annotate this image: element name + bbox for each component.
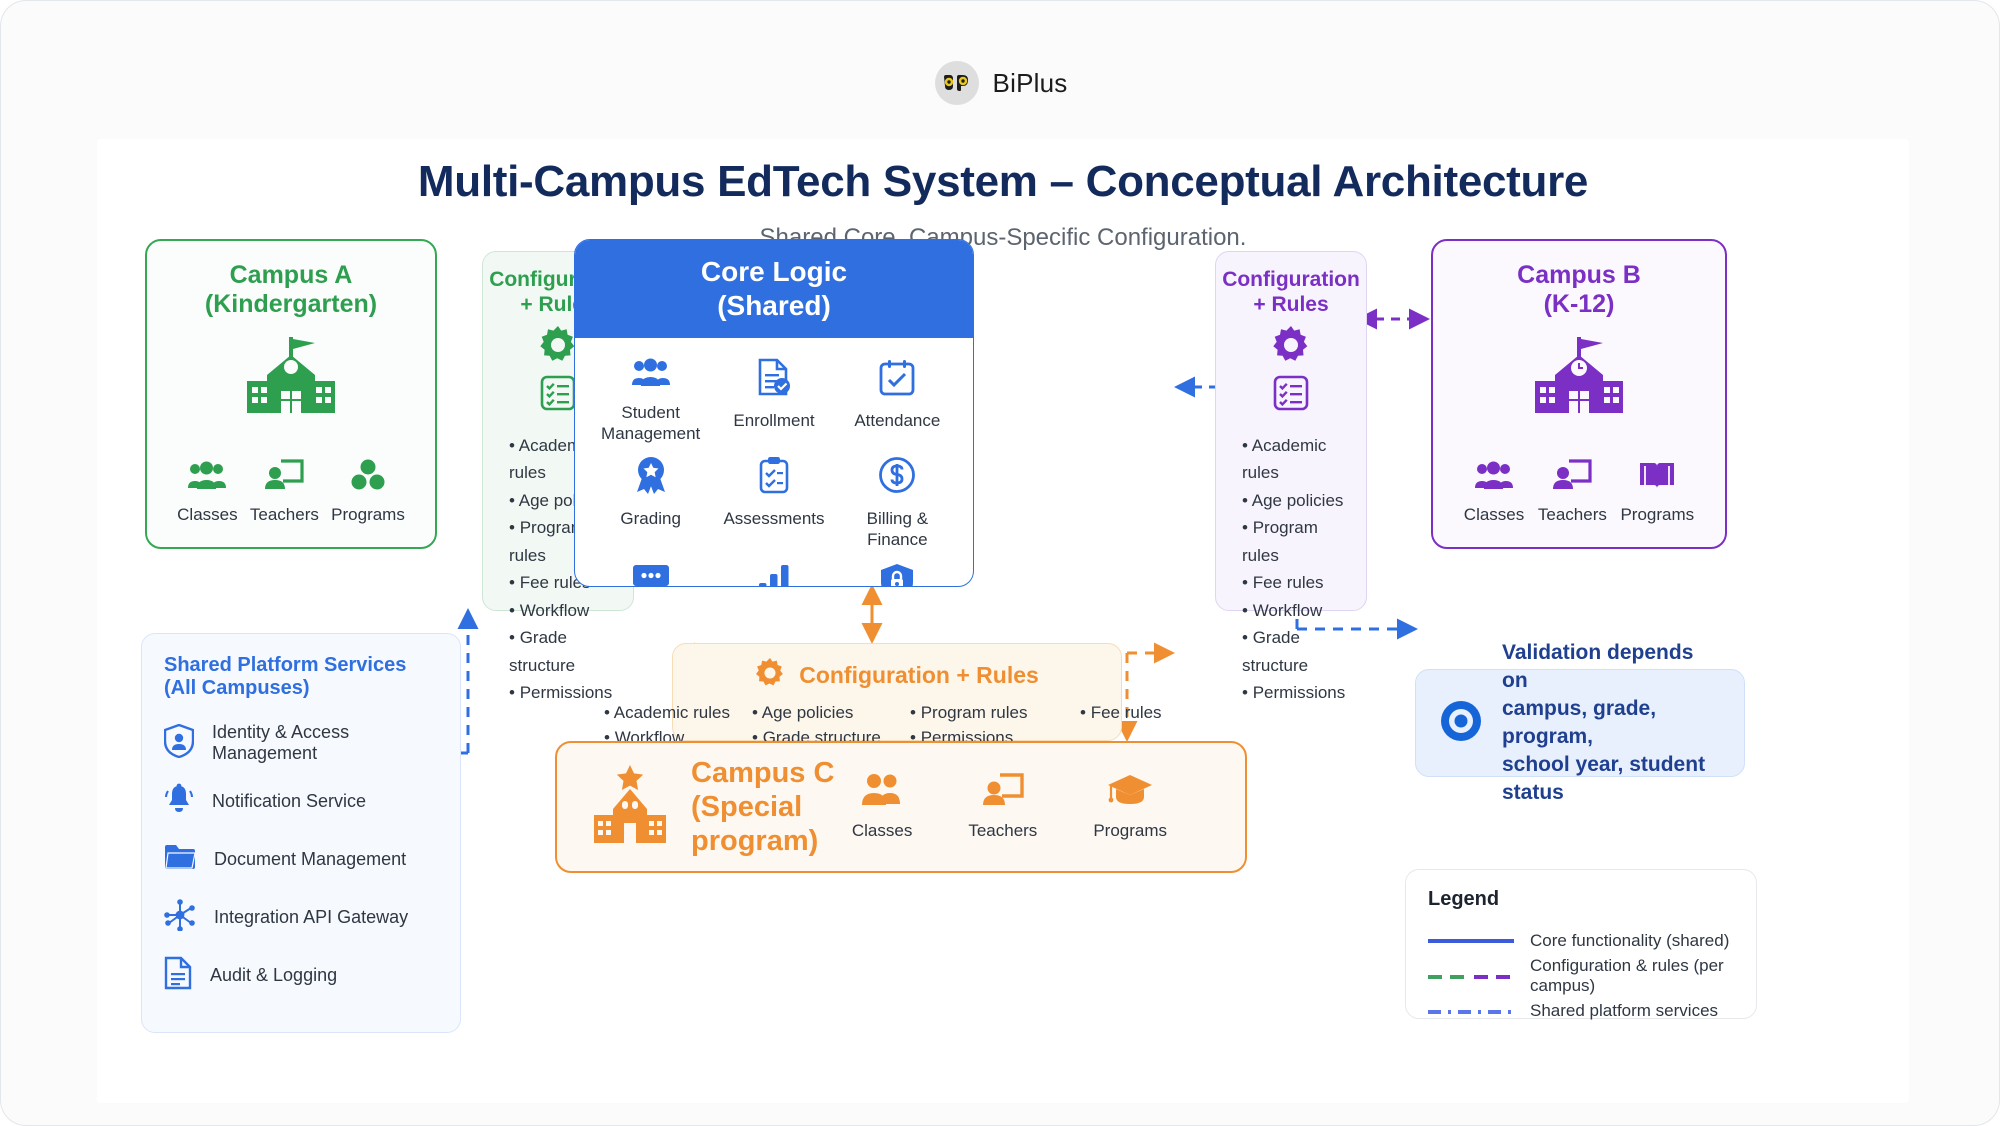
people-group-icon	[861, 773, 903, 812]
core-cell-student-management[interactable]: StudentManagement	[589, 358, 712, 444]
checklist-icon	[1273, 375, 1309, 416]
campus-a-items: Classes Teachers	[147, 459, 435, 525]
shared-platform-services-panel[interactable]: Shared Platform Services (All Campuses) …	[141, 633, 461, 1033]
legend-item-label: Core functionality (shared)	[1530, 931, 1729, 951]
bell-icon	[164, 783, 194, 820]
config-left-item: Permissions	[509, 679, 619, 707]
legend-item-label: Shared platform services	[1530, 1001, 1718, 1021]
config-right-list: Academic rules Age policies Program rule…	[1230, 432, 1352, 707]
core-cell-attendance[interactable]: Attendance	[836, 358, 959, 444]
chat-bubble-icon	[632, 563, 670, 587]
graduation-cap-icon	[1107, 773, 1153, 812]
shared-platform-item-audit[interactable]: Audit & Logging	[164, 946, 438, 1004]
document-lines-icon	[164, 956, 192, 995]
config-right-item: Workflow	[1242, 597, 1352, 625]
legend-panel: Legend Core functionality (shared) Confi…	[1405, 869, 1757, 1019]
gear-icon	[755, 658, 785, 693]
bar-chart-icon	[757, 563, 791, 587]
three-circles-icon	[350, 459, 386, 496]
legend-item-label: Configuration & rules (per campus)	[1530, 956, 1734, 996]
campus-a-card[interactable]: Campus A (Kindergarten)	[145, 239, 437, 549]
config-right-item: Fee rules	[1242, 569, 1352, 597]
award-ribbon-icon	[634, 456, 668, 499]
dollar-circle-icon	[878, 456, 916, 499]
core-cell-reporting-analytics[interactable]: Reporting &Analytics	[712, 563, 835, 587]
legend-item-configuration: Configuration & rules (per campus)	[1428, 958, 1734, 993]
campus-c-item-label: Classes	[852, 821, 912, 841]
config-bottom-item: Fee rules	[1080, 703, 1190, 723]
core-cell-label: Attendance	[854, 411, 940, 432]
people-group-icon	[1474, 461, 1514, 496]
campus-b-item-label: Classes	[1464, 505, 1524, 525]
shared-platform-item-integration[interactable]: Integration API Gateway	[164, 888, 438, 946]
legend-swatch-solid-blue	[1428, 939, 1514, 943]
config-bottom-panel[interactable]: Configuration + Rules Academic rules Age…	[672, 643, 1122, 741]
core-cell-grading[interactable]: Grading	[589, 456, 712, 550]
campus-c-title: Campus C (Special program)	[691, 756, 852, 859]
biplus-logo-icon	[935, 61, 979, 105]
school-building-flag-icon	[243, 333, 339, 426]
core-cell-billing-finance[interactable]: Billing &Finance	[836, 456, 959, 550]
campus-a-item-label: Programs	[331, 505, 405, 525]
campus-c-item-classes[interactable]: Classes	[852, 773, 912, 841]
campus-b-card[interactable]: Campus B (K-12)	[1431, 239, 1727, 549]
campus-a-title: Campus A (Kindergarten)	[205, 261, 377, 319]
brand-header: BiPlus	[1, 61, 2000, 105]
shared-platform-item-identity[interactable]: Identity & Access Management	[164, 714, 438, 772]
api-network-icon	[164, 899, 196, 936]
campus-c-item-programs[interactable]: Programs	[1093, 773, 1167, 841]
campus-c-item-teachers[interactable]: Teachers	[968, 773, 1037, 841]
config-right-item: Age policies	[1242, 487, 1352, 515]
shared-platform-item-label: Identity & Access Management	[212, 722, 438, 764]
diagram-page: BiPlus Multi-Campus EdTech System – Conc…	[0, 0, 2000, 1126]
shared-platform-item-label: Document Management	[214, 849, 406, 870]
config-right-item: Program rules	[1242, 514, 1352, 569]
open-book-icon	[1638, 459, 1676, 496]
core-cell-access-security[interactable]: Access &Security	[836, 563, 959, 587]
campus-b-item-label: Programs	[1620, 505, 1694, 525]
campus-b-item-teachers[interactable]: Teachers	[1538, 459, 1607, 525]
shared-platform-item-document[interactable]: Document Management	[164, 830, 438, 888]
core-cell-label: Grading	[620, 509, 680, 530]
core-logic-title: Core Logic (Shared)	[575, 240, 973, 338]
target-ring-icon	[1440, 700, 1482, 747]
campus-a-item-teachers[interactable]: Teachers	[250, 459, 319, 525]
config-bottom-item: Academic rules	[604, 703, 752, 723]
school-building-clock-icon	[1531, 333, 1627, 426]
people-group-icon	[187, 461, 227, 496]
calendar-check-icon	[879, 358, 915, 401]
diagram-canvas: Multi-Campus EdTech System – Conceptual …	[97, 139, 1909, 1103]
config-bottom-item: Age policies	[752, 703, 910, 723]
legend-item-shared-platform: Shared platform services	[1428, 993, 1734, 1028]
campus-a-item-classes[interactable]: Classes	[177, 461, 237, 525]
campus-b-title: Campus B (K-12)	[1517, 261, 1641, 319]
shield-person-icon	[164, 724, 194, 763]
page-title: Multi-Campus EdTech System – Conceptual …	[97, 157, 1909, 207]
people-group-icon	[631, 358, 671, 393]
campus-b-item-label: Teachers	[1538, 505, 1607, 525]
gear-icon	[1272, 326, 1310, 369]
brand-name: BiPlus	[993, 68, 1068, 99]
legend-title: Legend	[1428, 888, 1734, 911]
core-cell-label: Assessments	[723, 509, 824, 530]
campus-c-item-label: Programs	[1093, 821, 1167, 841]
config-right-item: Academic rules	[1242, 432, 1352, 487]
shield-lock-icon	[880, 563, 914, 587]
campus-c-item-label: Teachers	[968, 821, 1037, 841]
core-cell-label: StudentManagement	[601, 403, 700, 444]
teacher-board-icon	[264, 459, 304, 496]
campus-a-item-programs[interactable]: Programs	[331, 459, 405, 525]
teacher-board-icon	[982, 773, 1024, 812]
config-right-panel[interactable]: Configuration + Rules	[1215, 251, 1367, 611]
folder-icon	[164, 843, 196, 876]
clipboard-check-icon	[758, 456, 790, 499]
campus-a-item-label: Teachers	[250, 505, 319, 525]
campus-b-item-classes[interactable]: Classes	[1464, 461, 1524, 525]
config-right-item: Grade structure	[1242, 624, 1352, 679]
validation-note[interactable]: Validation depends on campus, grade, pro…	[1415, 669, 1745, 777]
school-building-star-icon	[591, 763, 669, 852]
shared-platform-item-label: Integration API Gateway	[214, 907, 408, 928]
shared-platform-item-notification[interactable]: Notification Service	[164, 772, 438, 830]
shared-platform-item-label: Audit & Logging	[210, 965, 337, 986]
legend-swatch-dashdot-blue	[1428, 1002, 1514, 1020]
config-right-item: Permissions	[1242, 679, 1352, 707]
config-left-item: Grade structure	[509, 624, 619, 679]
core-cell-enrollment[interactable]: Attendance Enrollment	[712, 358, 835, 444]
shared-platform-title: Shared Platform Services (All Campuses)	[164, 654, 438, 700]
core-cell-label: Billing &Finance	[867, 509, 928, 550]
validation-text: Validation depends on campus, grade, pro…	[1502, 639, 1720, 808]
core-cell-communication[interactable]: Communication	[589, 563, 712, 587]
core-cell-assessments[interactable]: Assessments	[712, 456, 835, 550]
campus-c-items: Classes Teachers	[852, 773, 1167, 841]
core-logic-card[interactable]: Core Logic (Shared) StudentManagement	[574, 239, 974, 587]
campus-c-card[interactable]: Campus C (Special program) Classes	[555, 741, 1247, 873]
config-left-item: Workflow	[509, 597, 619, 625]
checklist-icon	[540, 375, 576, 416]
document-check-icon	[757, 358, 791, 401]
campus-b-item-programs[interactable]: Programs	[1620, 459, 1694, 525]
campus-b-items: Classes Teachers	[1433, 459, 1725, 525]
core-logic-grid: StudentManagement A	[575, 338, 973, 587]
core-cell-label: Enrollment	[733, 411, 814, 432]
config-bottom-title: Configuration + Rules	[799, 662, 1039, 689]
config-bottom-item: Program rules	[910, 703, 1080, 723]
legend-item-core: Core functionality (shared)	[1428, 923, 1734, 958]
teacher-board-icon	[1552, 459, 1592, 496]
campus-a-item-label: Classes	[177, 505, 237, 525]
shared-platform-item-label: Notification Service	[212, 791, 366, 812]
config-right-title: Configuration + Rules	[1222, 268, 1360, 318]
legend-swatch-dashed-green-purple	[1428, 967, 1514, 985]
gear-icon	[539, 326, 577, 369]
